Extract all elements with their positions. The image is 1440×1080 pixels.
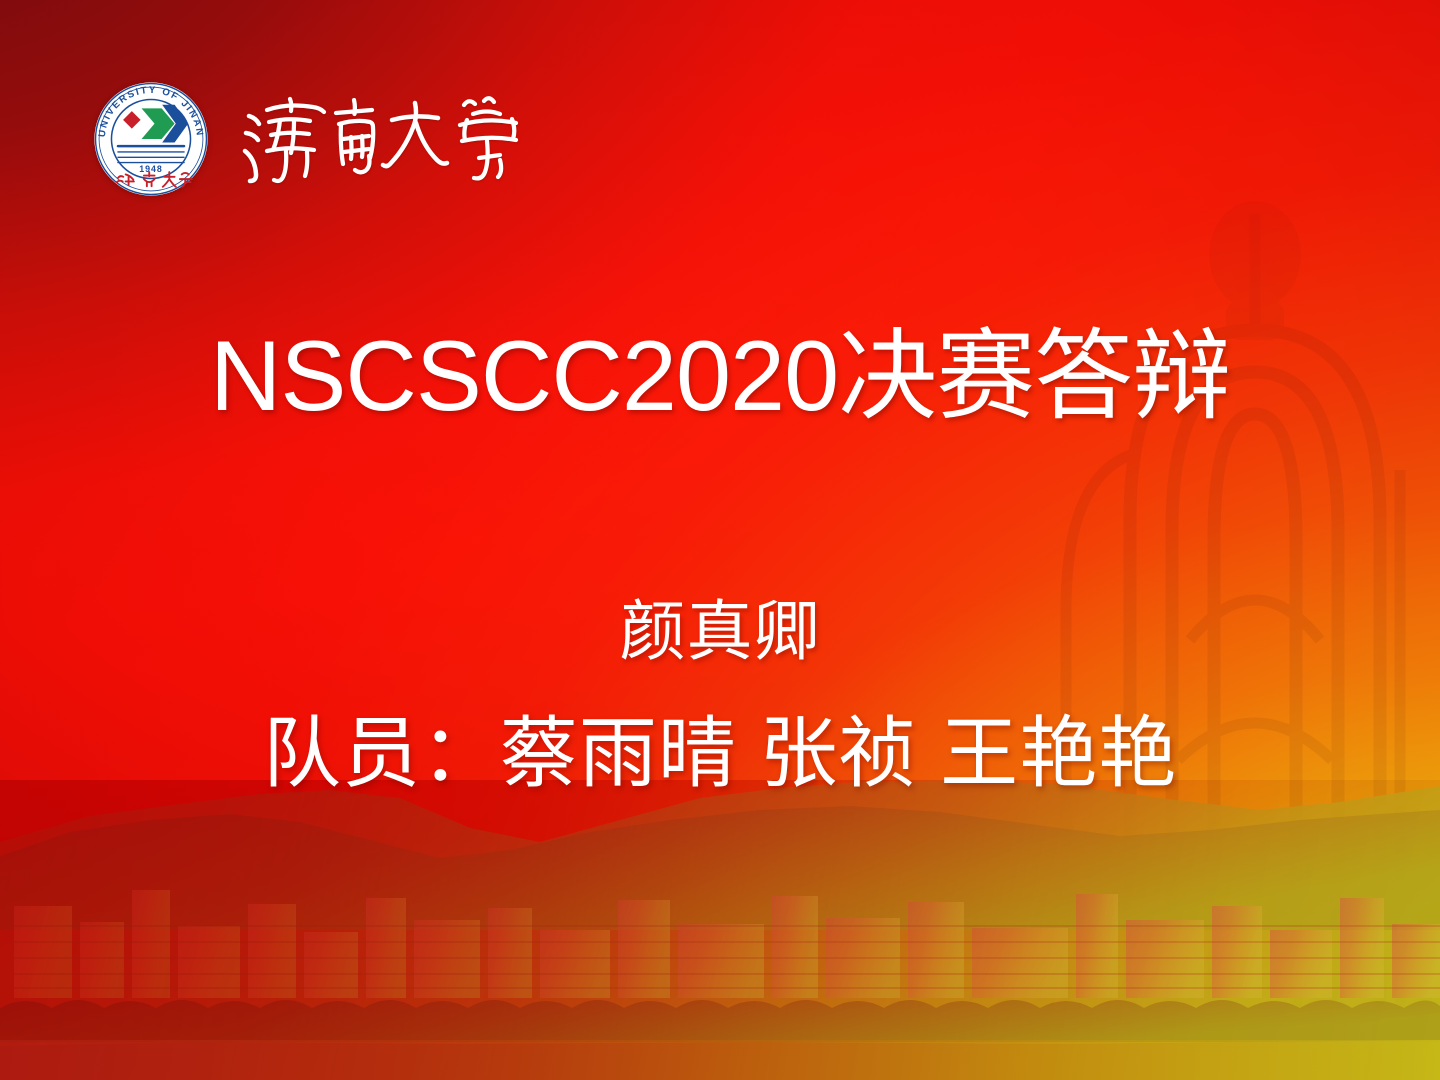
team-name: 颜真卿 [0,598,1440,664]
team-members: 队员：蔡雨晴 张祯 王艳艳 [0,714,1440,792]
campus-photo [0,780,1440,1080]
campus-photo-tint [0,780,1440,1080]
slide-title: NSCSCC2020决赛答辩 [0,326,1440,425]
waterfront-strip [0,1040,1440,1080]
calligraphy-wordmark-icon [238,87,568,191]
university-seal-icon: UNIVERSITY OF JINAN 19 [92,80,210,198]
svg-text:1948: 1948 [139,164,162,174]
presentation-slide: UNIVERSITY OF JINAN 19 [0,0,1440,1080]
university-logo: UNIVERSITY OF JINAN 19 [92,80,568,198]
